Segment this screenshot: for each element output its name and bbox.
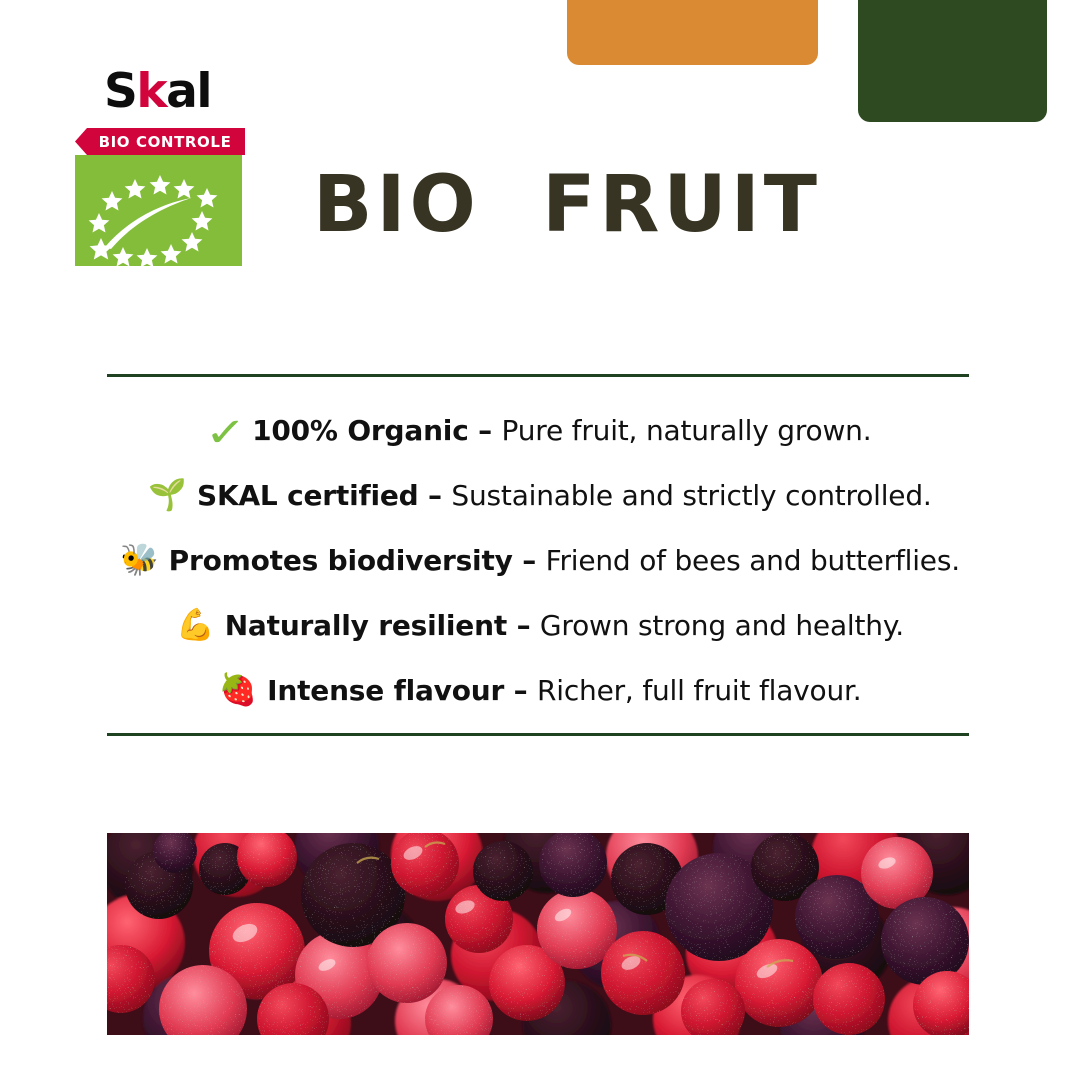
skal-wordmark-accent-k: k (136, 64, 166, 119)
benefits-list: ✓ 100% Organic – Pure fruit, naturally g… (0, 398, 1080, 723)
benefit-desc: Richer, full fruit flavour. (537, 674, 861, 707)
bio-controle-banner: BIO CONTROLE (75, 128, 245, 155)
benefit-item-skal-certified: 🌱 SKAL certified – Sustainable and stric… (0, 463, 1080, 528)
benefit-text: SKAL certified – Sustainable and strictl… (197, 479, 932, 512)
benefit-lead: SKAL certified – (197, 479, 451, 512)
frozen-mixed-berries-photo (107, 833, 969, 1035)
flexed-biceps-icon: 💪 (176, 610, 215, 641)
benefit-text: Intense flavour – Richer, full fruit fla… (267, 674, 861, 707)
skal-bio-controle-logo: Skal BIO CONTROLE (75, 68, 325, 266)
benefit-desc: Sustainable and strictly controlled. (451, 479, 931, 512)
honeybee-icon: 🐝 (120, 545, 159, 576)
benefit-desc: Friend of bees and butterflies. (546, 544, 960, 577)
benefit-text: Naturally resilient – Grown strong and h… (225, 609, 904, 642)
strawberry-icon: 🍓 (219, 675, 258, 706)
green-check-icon: ✓ (204, 413, 246, 453)
benefit-lead: Promotes biodiversity – (169, 544, 546, 577)
divider-bottom (107, 733, 969, 736)
benefit-text: Promotes biodiversity – Friend of bees a… (169, 544, 960, 577)
benefit-item-resilient: 💪 Naturally resilient – Grown strong and… (0, 593, 1080, 658)
skal-wordmark: Skal (104, 68, 211, 115)
decorative-block-orange (567, 0, 818, 65)
benefit-item-flavour: 🍓 Intense flavour – Richer, full fruit f… (0, 658, 1080, 723)
divider-top (107, 374, 969, 377)
benefit-lead: Naturally resilient – (225, 609, 540, 642)
benefit-item-biodiversity: 🐝 Promotes biodiversity – Friend of bees… (0, 528, 1080, 593)
skal-wordmark-part-1: S (104, 64, 136, 119)
page-title: BIO FRUIT (313, 166, 821, 244)
decorative-block-green (858, 0, 1047, 122)
benefit-desc: Grown strong and healthy. (540, 609, 904, 642)
eu-organic-leaf-icon (75, 155, 242, 266)
benefit-lead: Intense flavour – (267, 674, 537, 707)
benefit-desc: Pure fruit, naturally grown. (502, 414, 872, 447)
benefit-lead: 100% Organic – (252, 414, 501, 447)
benefit-text: 100% Organic – Pure fruit, naturally gro… (252, 414, 871, 447)
benefit-item-organic: ✓ 100% Organic – Pure fruit, naturally g… (0, 398, 1080, 463)
skal-wordmark-part-2: al (166, 64, 211, 119)
bio-controle-label: BIO CONTROLE (89, 133, 232, 151)
seedling-icon: 🌱 (148, 480, 187, 511)
